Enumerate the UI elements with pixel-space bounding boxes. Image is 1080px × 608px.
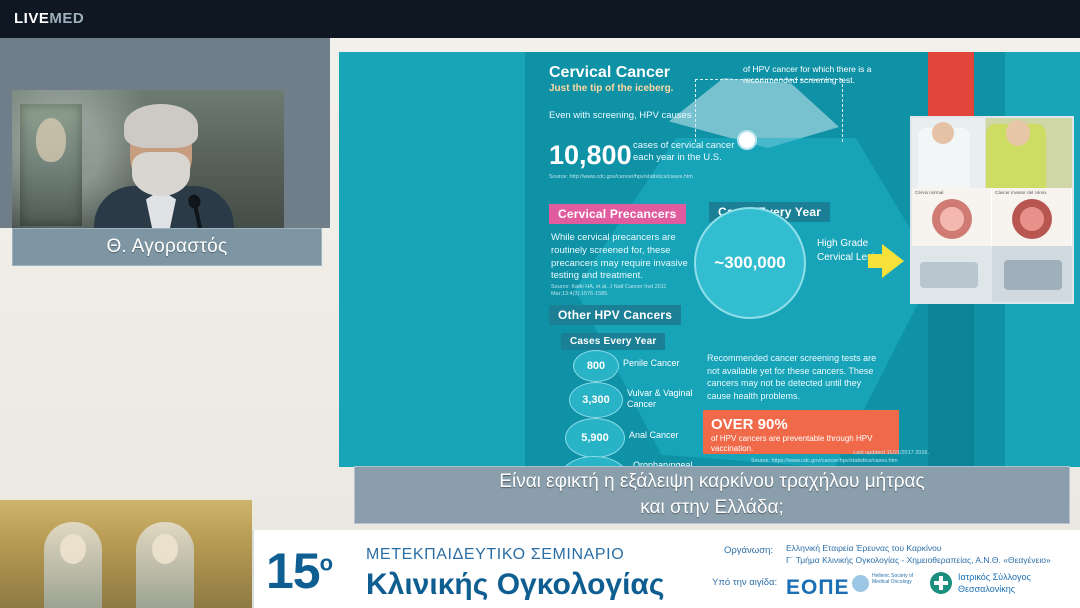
livemed-logo: LIVEMED (14, 10, 84, 27)
hsmo-logo-mark (852, 575, 869, 592)
speaker-panel (0, 38, 330, 228)
speaker-name-text: Θ. Αγοραστός (106, 236, 227, 258)
speaker-hair (124, 104, 198, 148)
penile-cancer-label: Penile Cancer (623, 358, 713, 369)
auspices-label: Υπό την αιγίδα: (712, 577, 777, 588)
normal-cervix-photo: Cérvix normal (912, 188, 992, 246)
invasive-cancer-caption: Cáncer invasor del cérvix (995, 190, 1047, 195)
arrow-tail (868, 254, 882, 268)
slide-source-2: Source: Katki HA, et al. J Natl Cancer I… (551, 284, 701, 298)
cervical-cancer-count: 10,800 (549, 140, 632, 171)
anal-cancer-label: Anal Cancer (629, 430, 709, 441)
cervical-precancers-tag: Cervical Precancers (549, 204, 686, 224)
screening-recommendation-text: Recommended cancer screening tests are n… (707, 352, 881, 402)
banner-figure-left (44, 522, 102, 608)
cervical-cancer-count-label: cases of cervical cancer each year in th… (633, 140, 743, 165)
banner-divider (252, 530, 254, 608)
eope-logo: EOΠΕ (786, 576, 850, 600)
speaker-name-bar: Θ. Αγοραστός (12, 228, 322, 266)
slide-intro-text: Even with screening, HPV causes (549, 110, 719, 123)
seminar-title: Κλινικής Ογκολογίας (366, 568, 664, 602)
caption-overlay: Είναι εφικτή η εξάλειψη καρκίνου τραχήλο… (354, 466, 1070, 524)
seminar-subtitle: ΜΕΤΕΚΠΑΙΔΕΥΤΙΚΟ ΣΕΜΙΝΑΡΙΟ (366, 546, 624, 564)
exam-table-left (920, 262, 978, 288)
high-grade-lesions-bubble: ~300,000 (694, 207, 806, 319)
normal-cervix-image (932, 199, 972, 239)
collage-bottom-photos (912, 246, 1072, 302)
collage-cervix-photos: Cérvix normal Cáncer invasor del cérvix (912, 188, 1072, 246)
slide-source-1: Source: http://www.cdc.gov/cancer/hpv/st… (549, 174, 729, 181)
anal-cancer-bubble: 5,900 (565, 418, 625, 458)
logo-live-text: LIVE (14, 10, 49, 27)
right-arrow-icon (882, 244, 904, 278)
slide-subtitle: Just the tip of the iceberg. (549, 83, 673, 94)
slide-source-3: Source: https://www.cdc.gov/cancer/hpv/s… (751, 458, 901, 465)
banner-figure-right (136, 522, 194, 608)
invasive-cancer-image (1012, 199, 1052, 239)
clinical-photo-collage: Cérvix normal Cáncer invasor del cérvix (910, 116, 1074, 304)
penile-cancer-bubble: 800 (573, 350, 619, 382)
edition-number-value: 15 (266, 543, 320, 599)
over90-title: OVER 90% (711, 416, 891, 433)
organizer-label: Οργάνωση: (724, 545, 773, 556)
medical-association-logo: Ιατρικός Σύλλογος Θεσσαλονίκης (930, 570, 1070, 600)
caption-line-1: Είναι εφικτή η εξάλειψη καρκίνου τραχήλο… (499, 469, 924, 495)
medical-cross-icon (930, 572, 952, 594)
callout-pin-icon (737, 130, 757, 150)
invasive-cancer-photo: Cáncer invasor del cérvix (992, 188, 1072, 246)
cases-every-year-tag-2: Cases Every Year (561, 333, 665, 350)
slide-last-updated: Last updated 11/21/2017 2016. (839, 450, 929, 457)
patient-head (1006, 120, 1030, 146)
medical-association-line-2: Θεσσαλονίκης (958, 584, 1015, 594)
wall-artwork (20, 104, 82, 226)
hsmo-logo-text: Hellenic Society of Medical Oncology (872, 573, 924, 586)
collage-top-photo (912, 118, 1072, 188)
organizer-text-2: Γ΄ Τμήμα Κλινικής Ογκολογίας - Χημειοθερ… (786, 555, 1051, 566)
event-banner: 15ο ΜΕΤΕΚΠΑΙΔΕΥΤΙΚΟ ΣΕΜΙΝΑΡΙΟ Κλινικής Ο… (0, 530, 1080, 608)
medical-association-line-1: Ιατρικός Σύλλογος (958, 572, 1031, 582)
vulvar-vaginal-cancer-bubble: 3,300 (569, 382, 623, 418)
edition-number: 15ο (266, 542, 332, 600)
hsmo-logo: Hellenic Society of Medical Oncology (852, 572, 924, 598)
organizer-text-1: Ελληνική Εταιρεία Έρευνας του Καρκίνου (786, 543, 942, 554)
slide-top-right-note: of HPV cancer for which there is a recom… (743, 64, 903, 86)
iceberg-callout-line (695, 79, 843, 142)
slide-title: Cervical Cancer (549, 64, 670, 82)
top-bar: LIVEMED (0, 0, 1080, 38)
vulvar-vaginal-cancer-label: Vulvar & Vaginal Cancer (627, 388, 705, 411)
logo-med-text: MED (49, 10, 84, 27)
exam-table-right (1004, 260, 1062, 290)
banner-artwork (0, 500, 252, 608)
presentation-slide[interactable]: Cervical Cancer Just the tip of the iceb… (339, 52, 1080, 467)
normal-cervix-caption: Cérvix normal (915, 190, 943, 195)
doctor-head (932, 122, 954, 144)
broadcast-screen: LIVEMED Θ. Αγοραστός Cervical Cancer Jus… (0, 0, 1080, 608)
speaker-beard (132, 152, 190, 196)
over90-callout: OVER 90% of HPV cancers are preventable … (703, 410, 899, 454)
other-hpv-cancers-tag: Other HPV Cancers (549, 305, 681, 325)
edition-number-sup: ο (320, 550, 332, 575)
caption-line-2: και στην Ελλάδα; (640, 495, 784, 521)
precancers-text: While cervical precancers are routinely … (551, 232, 691, 283)
